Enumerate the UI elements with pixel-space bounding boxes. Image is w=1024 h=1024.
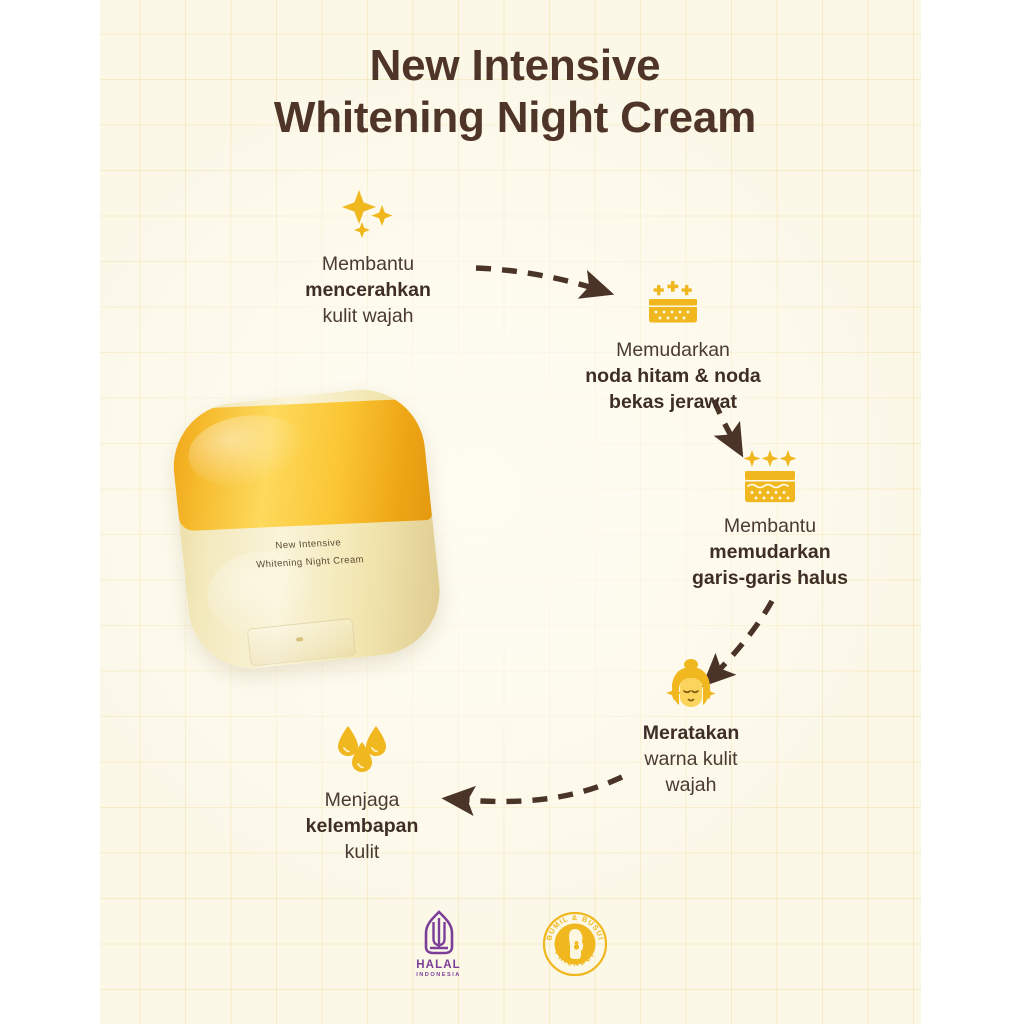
feature-line-1: Menjaga	[262, 788, 462, 814]
feature-line-3: kulit wajah	[268, 304, 468, 330]
halal-title: HALAL	[416, 960, 461, 972]
page-title: New Intensive Whitening Night Cream	[160, 40, 870, 144]
feature-line-2: mencerahkan	[305, 279, 431, 301]
feature-line-2: kelembapan	[306, 815, 419, 837]
feature-line-2: memudarkan	[709, 541, 830, 563]
title-line-1: New Intensive	[370, 41, 661, 90]
feature-line-3: garis-garis halus	[692, 567, 848, 589]
certification-logos: HALAL INDONESIA BUMIL & BUSUI FRIENDLY	[100, 898, 921, 990]
cream-jar-icon: New Intensive Whitening Night Cream	[167, 384, 446, 681]
feature-mencerahkan: Membantu mencerahkan kulit wajah	[268, 186, 468, 330]
feature-text: Membantu memudarkan garis-garis halus	[655, 514, 885, 592]
feature-text: Memudarkan noda hitam & noda bekas jeraw…	[553, 338, 793, 416]
feature-text: Meratakan warna kulit wajah	[596, 721, 786, 799]
feature-line-3: bekas jerawat	[609, 391, 737, 413]
skin-spots-icon	[553, 272, 793, 328]
feature-kelembapan: Menjaga kelembapan kulit	[262, 722, 462, 866]
feature-line-1: Memudarkan	[553, 338, 793, 364]
feature-line-1: Meratakan	[643, 722, 739, 744]
feature-line-2: noda hitam & noda	[585, 365, 761, 387]
feature-line-1: Membantu	[655, 514, 885, 540]
poster-canvas: New Intensive Whitening Night Cream New …	[0, 0, 1024, 1024]
feature-meratakan: Meratakan warna kulit wajah	[596, 655, 786, 799]
feature-garis-halus: Membantu memudarkan garis-garis halus	[655, 448, 885, 592]
title-line-2: Whitening Night Cream	[160, 92, 870, 144]
feature-text: Membantu mencerahkan kulit wajah	[268, 252, 468, 330]
jar-label: New Intensive Whitening Night Cream	[181, 530, 437, 578]
feature-line-2: warna kulit	[596, 747, 786, 773]
skin-fine-lines-icon	[655, 448, 885, 504]
woman-face-icon	[596, 655, 786, 711]
halal-gunungan-icon	[414, 909, 464, 959]
jar-body: New Intensive Whitening Night Cream	[167, 384, 445, 675]
feature-line-3: kulit	[262, 840, 462, 866]
feature-line-1: Membantu	[268, 252, 468, 278]
water-drops-icon	[262, 722, 462, 778]
feature-line-3: wajah	[596, 773, 786, 799]
halal-subtitle: INDONESIA	[416, 973, 461, 979]
halal-caption: HALAL INDONESIA	[416, 960, 461, 979]
product-image: New Intensive Whitening Night Cream	[163, 388, 453, 688]
sparkles-icon	[268, 186, 468, 242]
halal-indonesia-logo: HALAL INDONESIA	[414, 909, 464, 979]
feature-noda-hitam: Memudarkan noda hitam & noda bekas jeraw…	[553, 272, 793, 416]
bumil-busui-friendly-badge: BUMIL & BUSUI FRIENDLY	[542, 911, 608, 977]
feature-text: Menjaga kelembapan kulit	[262, 788, 462, 866]
